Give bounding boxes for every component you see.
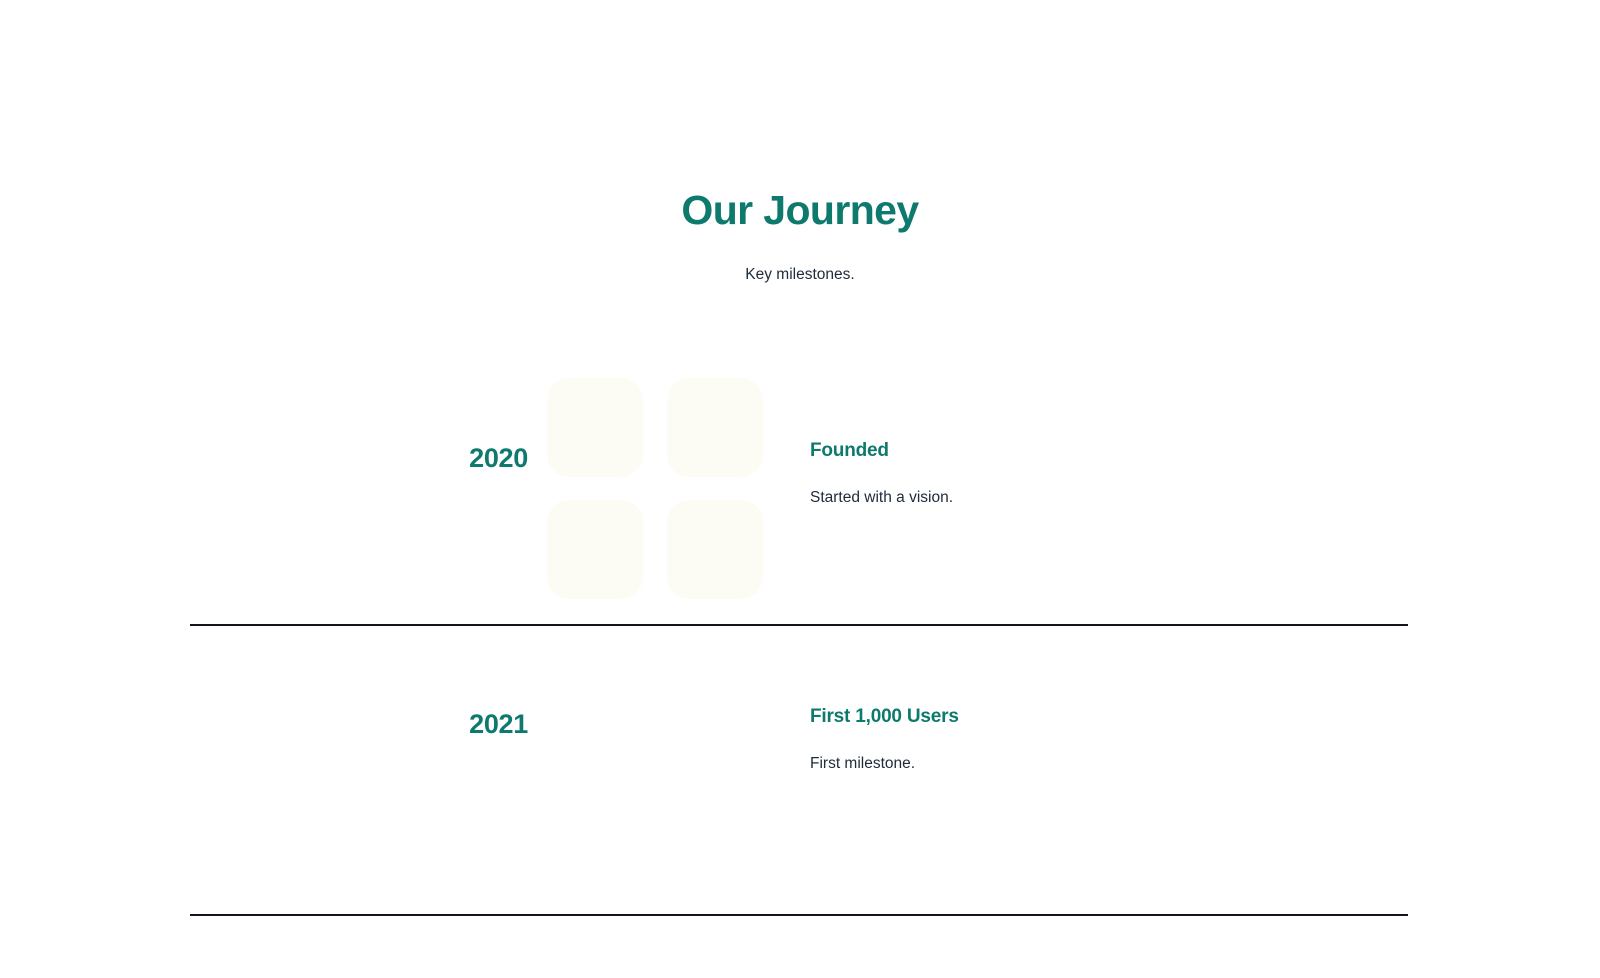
timeline-content-column: First 1,000 Users First milestone. <box>810 626 1408 775</box>
timeline-list: 2020 Founded Started with a vision. 2021 <box>190 330 1408 916</box>
timeline-page: Our Journey Key milestones. 2020 Founded… <box>0 0 1600 978</box>
page-title: Our Journey <box>0 186 1600 234</box>
placeholder-tile <box>667 378 763 477</box>
section-header: Our Journey Key milestones. <box>0 186 1600 287</box>
placeholder-tile <box>667 500 763 599</box>
placeholder-tile <box>547 378 643 477</box>
placeholder-tile <box>547 500 643 599</box>
timeline-year-column: 2021 <box>190 626 540 740</box>
timeline-entry[interactable]: 2021 First 1,000 Users First milestone. <box>190 626 1408 916</box>
milestone-description: First milestone. <box>810 752 1408 775</box>
timeline-entry[interactable]: 2020 Founded Started with a vision. <box>190 330 1408 626</box>
timeline-year: 2020 <box>469 443 528 474</box>
milestone-description: Started with a vision. <box>810 486 1408 509</box>
timeline-content-column: Founded Started with a vision. <box>810 330 1408 509</box>
tile-grid <box>547 378 782 599</box>
milestone-title: Founded <box>810 439 1408 464</box>
milestone-title: First 1,000 Users <box>810 705 1408 730</box>
timeline-year: 2021 <box>469 709 528 740</box>
timeline-year-column: 2020 <box>190 330 540 474</box>
page-subtitle: Key milestones. <box>0 263 1600 286</box>
